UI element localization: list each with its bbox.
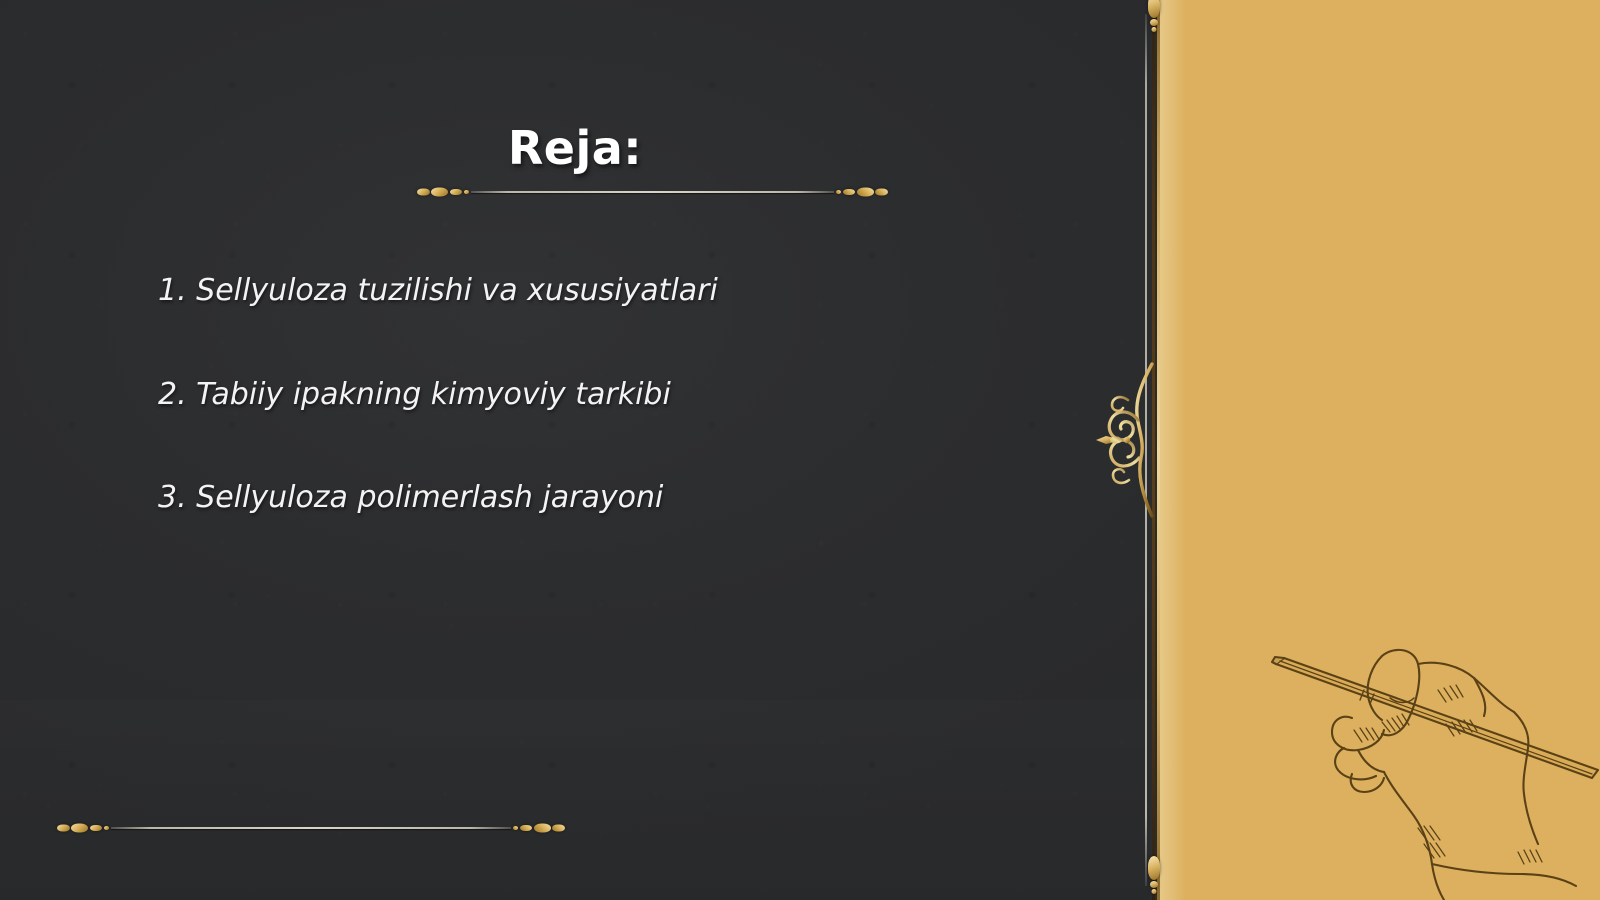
bottom-divider-ornament-right-icon [511, 822, 567, 834]
agenda-item-1: 1. Sellyuloza tuzilishi va xususiyatlari [158, 272, 1038, 310]
page-title: Reja: [508, 124, 642, 172]
title-block: Reja: [0, 124, 1150, 172]
bottom-divider-rule [55, 821, 567, 835]
title-divider-rule [415, 185, 890, 199]
divider-ornament-left-icon [415, 186, 471, 198]
bottom-divider-line [111, 827, 511, 829]
divider-line [471, 191, 834, 193]
filigree-ornament-icon [1094, 360, 1166, 520]
hand-holding-pencil-illustration [1232, 612, 1600, 900]
divider-ornament-right-icon [834, 186, 890, 198]
agenda-list: 1. Sellyuloza tuzilishi va xususiyatlari… [158, 272, 1038, 517]
divider-bead-top-icon [1147, 0, 1161, 32]
slide: Reja: 1. Sellyuloza tuzilishi va xususiy… [0, 0, 1600, 900]
divider-bead-bottom-icon [1147, 854, 1161, 894]
agenda-item-3: 3. Sellyuloza polimerlash jarayoni [158, 479, 1038, 517]
bottom-divider-ornament-left-icon [55, 822, 111, 834]
agenda-item-2: 2. Tabiiy ipakning kimyoviy tarkibi [158, 376, 1038, 414]
